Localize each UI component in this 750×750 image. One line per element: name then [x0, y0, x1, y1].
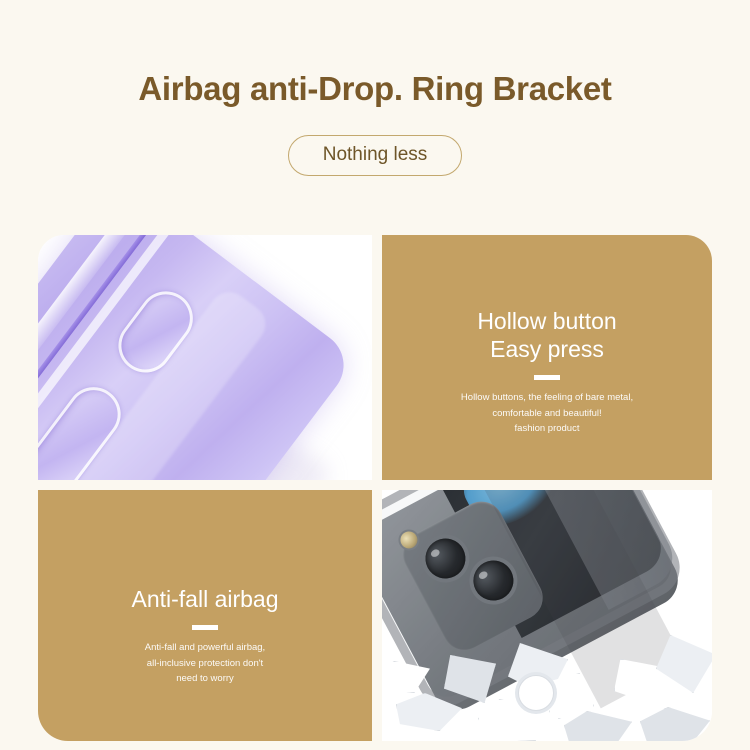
body-line: comfortable and beautiful! [382, 406, 712, 422]
crack-shard [382, 661, 430, 693]
body-line: Hollow buttons, the feeling of bare meta… [382, 390, 712, 406]
anti-fall-copy-block: Anti-fall airbag Anti-fall and powerful … [38, 585, 372, 687]
hollow-button-copy-block: Hollow button Easy press Hollow buttons,… [382, 307, 712, 437]
page-header: Airbag anti-Drop. Ring Bracket Nothing l… [0, 0, 750, 176]
body-line: Anti-fall and powerful airbag, [38, 640, 372, 656]
feature-panel-grid: Hollow button Easy press Hollow buttons,… [38, 235, 712, 741]
crack-impact-center [518, 675, 554, 711]
panel-anti-fall-text: Anti-fall airbag Anti-fall and powerful … [38, 490, 372, 741]
drop-test-photo [382, 490, 712, 741]
cracked-ground [382, 615, 712, 741]
divider-bar [192, 625, 218, 630]
purple-case-photo [38, 235, 372, 480]
crack-shard [564, 711, 632, 741]
hollow-button-body-copy: Hollow buttons, the feeling of bare meta… [382, 390, 712, 437]
purple-case-body [38, 235, 357, 480]
product-feature-page: Airbag anti-Drop. Ring Bracket Nothing l… [0, 0, 750, 750]
body-line: need to worry [38, 671, 372, 687]
subtitle-pill-wrapper: Nothing less [0, 135, 750, 176]
crack-shard [640, 707, 710, 741]
crack-shard [396, 693, 462, 731]
panel-hollow-button-text: Hollow button Easy press Hollow buttons,… [382, 235, 712, 480]
hollow-button-headline-line2: Easy press [382, 335, 712, 363]
subtitle-pill: Nothing less [288, 135, 463, 176]
hollow-button-headline-line1: Hollow button [382, 307, 712, 335]
crack-shard [444, 655, 496, 703]
divider-bar [534, 375, 560, 380]
page-title: Airbag anti-Drop. Ring Bracket [0, 72, 750, 105]
panel-hollow-button-photo [38, 235, 372, 480]
body-line: fashion product [382, 421, 712, 437]
anti-fall-body-copy: Anti-fall and powerful airbag, all-inclu… [38, 640, 372, 687]
anti-fall-headline: Anti-fall airbag [38, 585, 372, 613]
body-line: all-inclusive protection don't [38, 656, 372, 672]
panel-anti-fall-photo [382, 490, 712, 741]
